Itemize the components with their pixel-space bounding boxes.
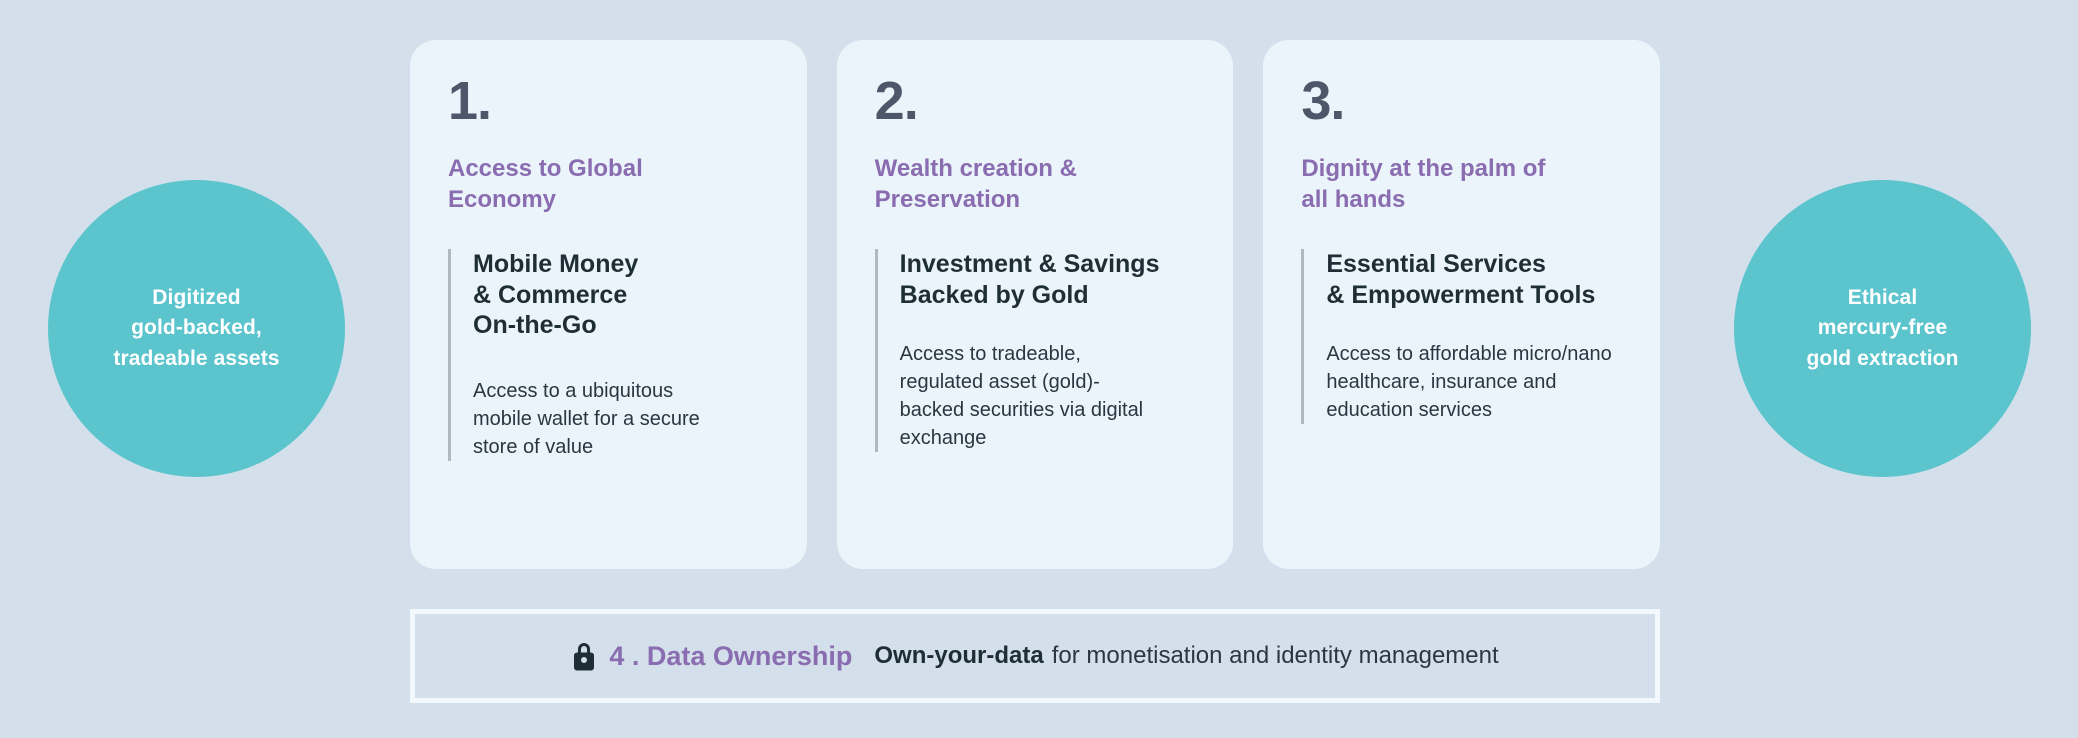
lock-icon [571,640,597,672]
right-circle-text: Ethical mercury-free gold extraction [1806,283,1958,374]
pillar-card-2[interactable]: 2. Wealth creation & Preservation Invest… [837,40,1234,569]
card-description: Access to affordable micro/nano healthca… [1326,340,1622,424]
card-subtitle: Dignity at the palm of all hands [1301,154,1622,215]
card-heading: Mobile Money & Commerce On-the-Go [473,249,769,341]
data-ownership-bar-content: 4 . Data Ownership Own-your-data for mon… [571,640,1498,672]
pillar-card-list: 1. Access to Global Economy Mobile Money… [410,40,1660,569]
card-subtitle: Wealth creation & Preservation [875,154,1196,215]
card-heading: Investment & Savings Backed by Gold [900,249,1196,310]
data-ownership-label: 4 . Data Ownership [609,641,852,672]
card-description: Access to tradeable, regulated asset (go… [900,340,1196,452]
own-your-data-text: Own-your-data [874,642,1043,670]
data-ownership-bar[interactable]: 4 . Data Ownership Own-your-data for mon… [410,609,1660,703]
infographic-canvas: Digitized gold-backed, tradeable assets … [0,0,2078,738]
left-circle-text: Digitized gold-backed, tradeable assets [113,283,279,374]
card-number: 2. [875,74,1196,128]
right-circle-badge: Ethical mercury-free gold extraction [1734,180,2031,477]
left-circle-badge: Digitized gold-backed, tradeable assets [48,180,345,477]
card-heading: Essential Services & Empowerment Tools [1326,249,1622,310]
card-description: Access to a ubiquitous mobile wallet for… [473,377,769,461]
data-ownership-description: for monetisation and identity management [1052,642,1499,670]
card-number: 1. [448,74,769,128]
card-body: Mobile Money & Commerce On-the-Go Access… [448,249,769,461]
pillar-card-3[interactable]: 3. Dignity at the palm of all hands Esse… [1263,40,1660,569]
card-subtitle: Access to Global Economy [448,154,769,215]
card-body: Investment & Savings Backed by Gold Acce… [875,249,1196,452]
pillar-card-1[interactable]: 1. Access to Global Economy Mobile Money… [410,40,807,569]
card-number: 3. [1301,74,1622,128]
card-body: Essential Services & Empowerment Tools A… [1301,249,1622,424]
